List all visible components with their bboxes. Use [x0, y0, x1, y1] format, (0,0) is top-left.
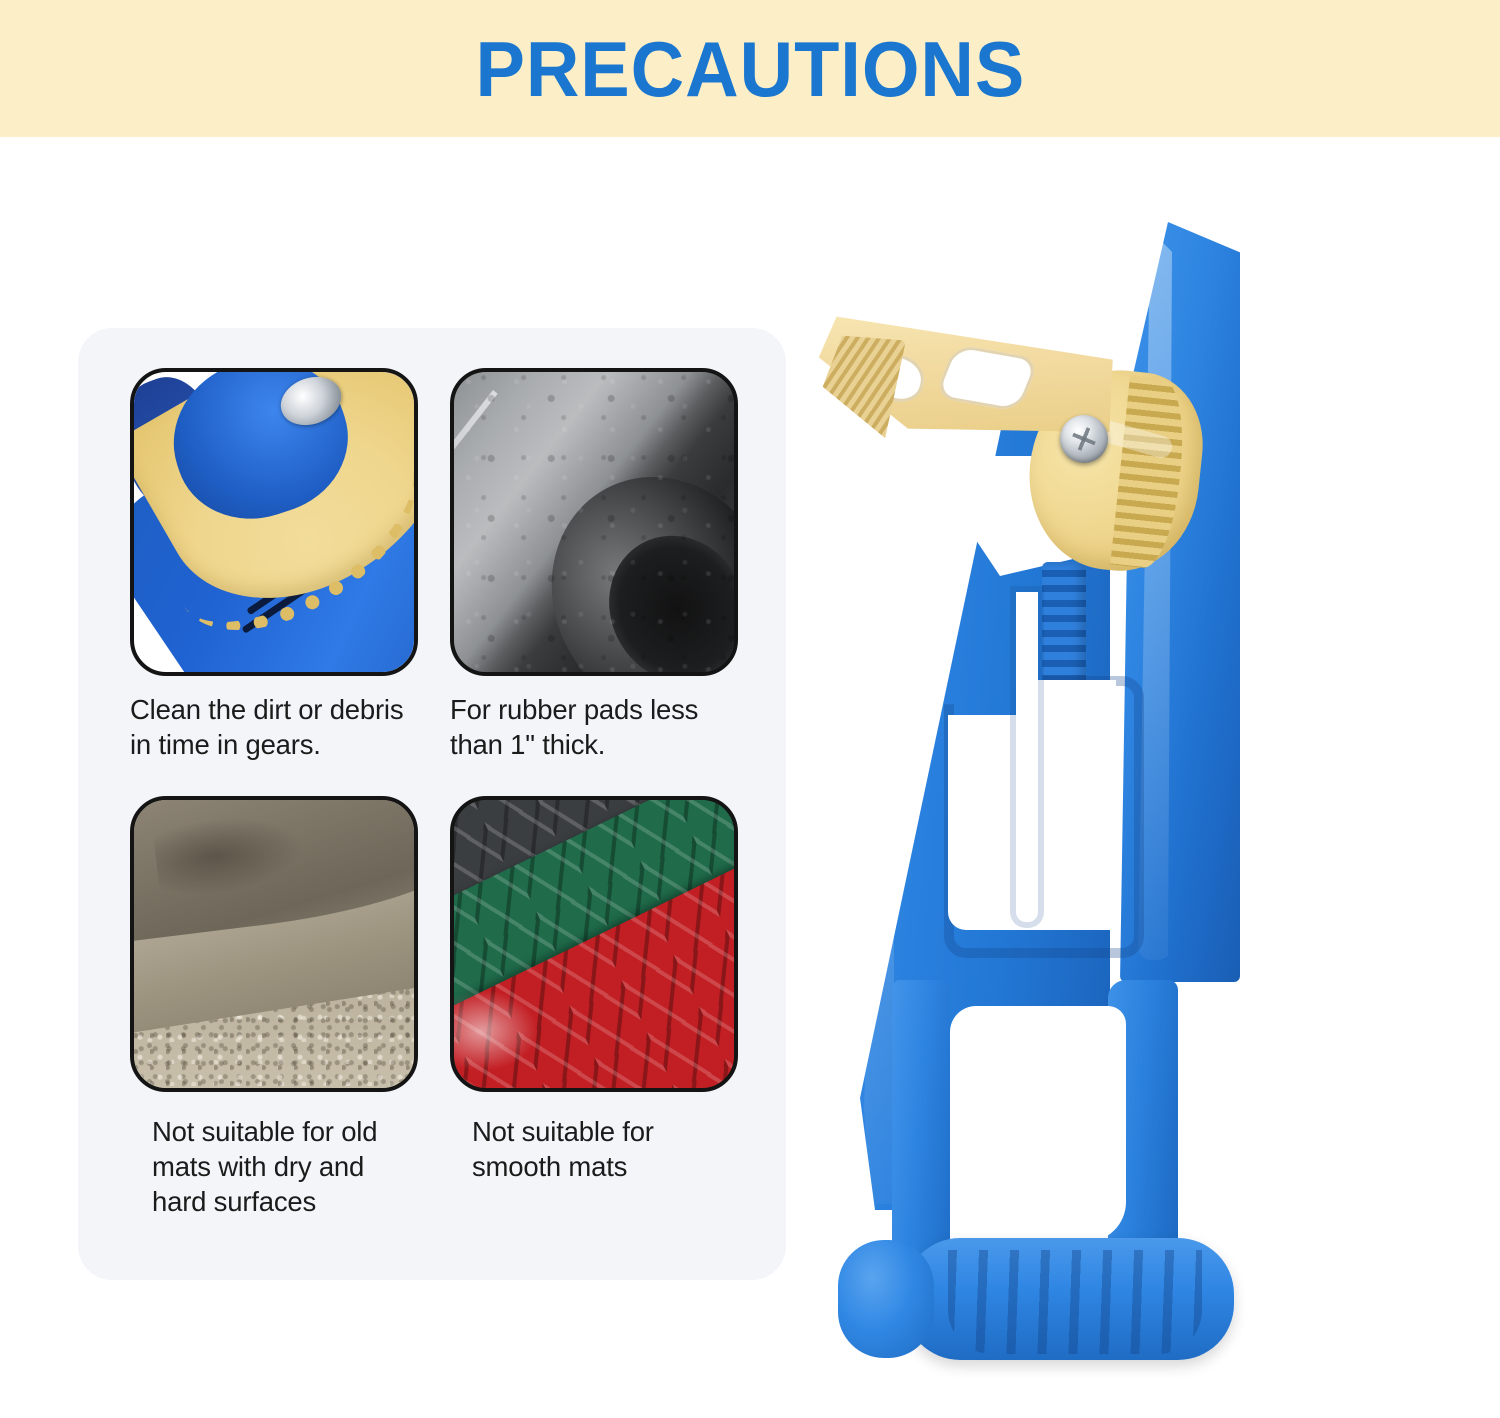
gear-closeup-photo [130, 368, 418, 676]
precautions-grid: Clean the dirt or debris in time in gear… [78, 328, 786, 1280]
surface-grain [454, 372, 734, 672]
frame-left-highlight [864, 416, 894, 1204]
precaution-item: Not suitable for smooth mats [450, 796, 772, 1184]
precaution-caption: Clean the dirt or debris in time in gear… [130, 692, 430, 762]
handle-window-opening [950, 1006, 1126, 1242]
hook-notch-slot [1016, 592, 1038, 922]
mat-lifter-product-image [820, 210, 1440, 1390]
old-mat-on-concrete-photo [130, 796, 418, 1092]
diamond-plate-mats-photo [450, 796, 738, 1092]
precaution-caption: For rubber pads less than 1" thick. [450, 692, 750, 762]
precaution-item: Not suitable for old mats with dry and h… [130, 796, 452, 1220]
precautions-card: Clean the dirt or debris in time in gear… [78, 328, 786, 1280]
precaution-caption: Not suitable for old mats with dry and h… [152, 1114, 452, 1220]
page-title: PRECAUTIONS [475, 30, 1025, 108]
handle-end-knob [838, 1240, 934, 1358]
rubber-pad-roll-photo [450, 368, 738, 676]
precaution-item: Clean the dirt or debris in time in gear… [130, 368, 430, 762]
precaution-item: For rubber pads less than 1" thick. [450, 368, 750, 762]
handle-grip-grooves [948, 1250, 1202, 1354]
precaution-caption: Not suitable for smooth mats [472, 1114, 772, 1184]
header-band: PRECAUTIONS [0, 0, 1500, 137]
